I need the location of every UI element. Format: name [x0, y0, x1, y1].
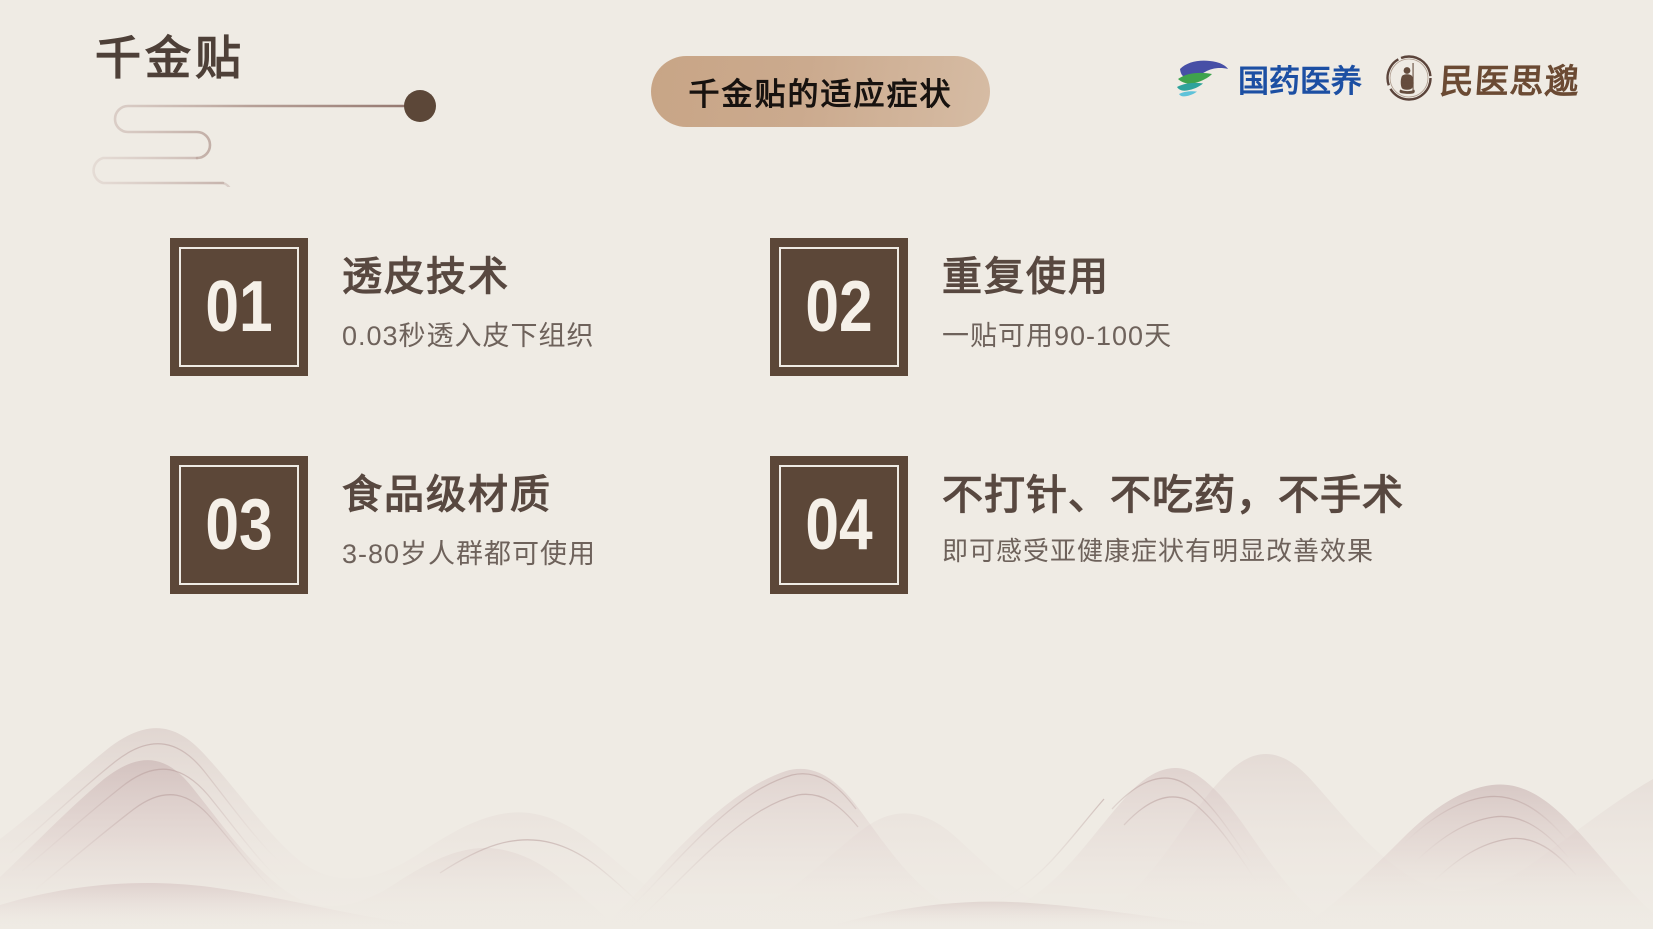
feature-number-label: 04: [805, 489, 872, 561]
feature-number-box: 04: [770, 456, 908, 594]
feature-title: 透皮技术: [342, 254, 595, 300]
logo-minyi-label: 民医思邈: [1438, 54, 1581, 103]
mountain-contour-lines: [10, 744, 1576, 929]
cloud-scroll-ornament-icon: [73, 82, 455, 187]
feature-number-label: 02: [805, 271, 872, 343]
feature-text-block: 不打针、不吃药，不手术 即可感受亚健康症状有明显改善效果: [942, 456, 1404, 568]
feature-number-box: 02: [770, 238, 908, 376]
logo-minyi: 民医思邈: [1384, 53, 1580, 103]
logo-group: 国药医养 民医思邈: [1172, 52, 1580, 104]
mountain-layer-near-center: [820, 902, 1270, 929]
feature-card-04: 04 不打针、不吃药，不手术 即可感受亚健康症状有明显改善效果: [770, 456, 1510, 594]
feature-subtitle: 3-80岁人群都可使用: [342, 532, 596, 571]
mountain-layer-left: [0, 760, 606, 929]
feature-grid: 01 透皮技术 0.03秒透入皮下组织 02 重复使用 一贴可用90-100天 …: [170, 238, 1500, 598]
cloud-ornament-dot: [404, 90, 436, 122]
feature-number-label: 03: [205, 489, 272, 561]
feature-subtitle: 一贴可用90-100天: [942, 314, 1172, 353]
feature-card-03: 03 食品级材质 3-80岁人群都可使用: [170, 456, 770, 594]
ink-wash-mountain-range: [0, 629, 1653, 929]
feature-text-block: 食品级材质 3-80岁人群都可使用: [342, 456, 596, 571]
mountain-layer-near-left: [0, 883, 470, 929]
feature-number-box: 03: [170, 456, 308, 594]
feature-card-02: 02 重复使用 一贴可用90-100天: [770, 238, 1510, 456]
feature-title: 不打针、不吃药，不手术: [942, 472, 1404, 519]
logo-guoyao-label: 国药医养: [1238, 56, 1362, 101]
section-header-badge: 千金贴的适应症状: [651, 56, 990, 127]
round-seal-figure-logo-mark-icon: [1384, 53, 1434, 103]
slide-canvas: 千金贴: [0, 0, 1653, 929]
feature-subtitle: 即可感受亚健康症状有明显改善效果: [942, 531, 1404, 568]
brand-block: 千金贴: [95, 36, 455, 186]
feature-number-label: 01: [205, 271, 272, 343]
mountain-layer-center: [600, 768, 1344, 929]
section-header-label: 千金贴的适应症状: [689, 69, 953, 114]
feature-card-01: 01 透皮技术 0.03秒透入皮下组织: [170, 238, 770, 456]
mountain-layer-far: [0, 728, 1653, 929]
feature-text-block: 透皮技术 0.03秒透入皮下组织: [342, 238, 595, 353]
feature-subtitle: 0.03秒透入皮下组织: [342, 314, 595, 353]
feature-title: 重复使用: [942, 254, 1172, 300]
ribbon-swoosh-logo-mark-icon: [1172, 56, 1230, 100]
page-title: 千金贴: [95, 36, 455, 82]
mountain-layer-right: [1300, 784, 1653, 929]
feature-number-box: 01: [170, 238, 308, 376]
feature-title: 食品级材质: [342, 472, 596, 518]
logo-guoyao: 国药医养: [1172, 56, 1362, 101]
feature-text-block: 重复使用 一贴可用90-100天: [942, 238, 1172, 353]
